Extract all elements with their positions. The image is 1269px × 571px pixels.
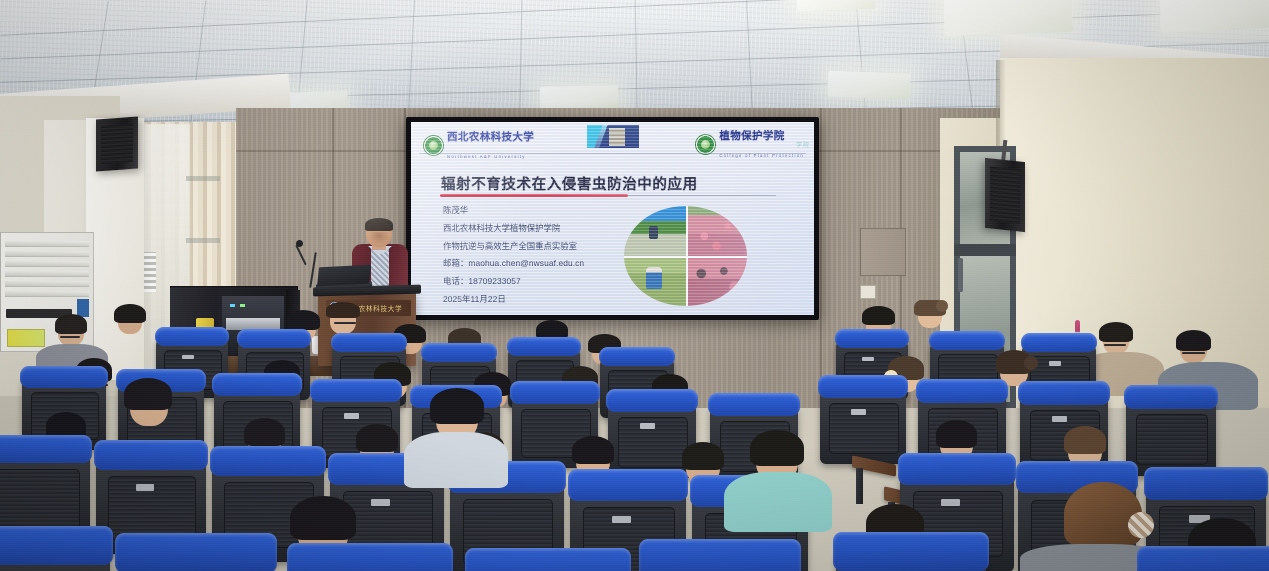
auditorium-seat[interactable]	[642, 558, 798, 571]
attendee-hair	[290, 496, 356, 540]
collage-quadrant-researcher	[624, 256, 686, 306]
presentation-screen[interactable]: 西北农林科技大学 Northwest A&F University 植物保护学院…	[411, 122, 814, 315]
collage-quadrant-field	[624, 206, 686, 256]
slide-watermark: 学院	[796, 140, 810, 149]
attendee-hair	[536, 320, 568, 339]
field-research-photo-collage	[624, 206, 747, 306]
attendee-hair-bun	[936, 300, 948, 312]
attendee-hair	[114, 304, 146, 323]
attendee-hair	[1176, 330, 1211, 351]
attendee-hair	[244, 418, 285, 446]
window-mullion	[186, 238, 220, 243]
door-handle[interactable]	[958, 258, 963, 292]
attendee-hair	[430, 388, 484, 424]
title-underline-tail	[628, 195, 776, 196]
attendee-glasses	[60, 336, 80, 338]
slide-line-author: 陈茂华	[443, 206, 633, 214]
attendee-hair	[124, 378, 172, 410]
attendee-hair-scrunchie	[1128, 512, 1154, 538]
attendee-hair	[1064, 426, 1106, 454]
slide-line-email: 邮箱：maohua.chen@nwsuaf.edu.cn	[443, 259, 633, 267]
auditorium-seat[interactable]	[290, 562, 450, 571]
attendee-glasses	[334, 322, 356, 324]
slide-line-affiliation: 西北农林科技大学植物保护学院	[443, 224, 633, 232]
attendee-hair	[936, 420, 977, 448]
campus-building-photo	[587, 125, 639, 148]
attendee-glasses	[1104, 344, 1126, 346]
collage-quadrant-harvest	[686, 256, 748, 306]
slide-line-phone: 电话：18709233057	[443, 277, 633, 285]
attendee-glasses	[1182, 352, 1205, 354]
presenter-laptop[interactable]	[317, 265, 371, 287]
university-logo: 西北农林科技大学 Northwest A&F University	[423, 127, 534, 163]
wall-outlet-plate	[860, 285, 876, 299]
slide-body-lines: 陈茂华 西北农林科技大学植物保护学院 作物抗逆与高效生产全国重点实验室 邮箱：m…	[443, 206, 633, 313]
attendee-hair	[287, 310, 320, 330]
window-mullion	[186, 176, 220, 181]
college-seal-icon	[695, 134, 716, 155]
microphone-capsule	[296, 240, 303, 247]
attendee-hair	[1099, 322, 1133, 342]
attendee-hair	[750, 430, 804, 466]
presenter-face-shadow	[369, 232, 389, 244]
university-name-cn: 西北农林科技大学	[447, 131, 534, 143]
title-underline-accent	[440, 194, 628, 197]
attendee-hair-bun	[1024, 356, 1038, 370]
collage-divider-horizontal	[624, 256, 747, 258]
attendee-hair	[862, 306, 895, 325]
door-cross-rail	[954, 244, 1016, 256]
attendee-hair	[682, 442, 724, 470]
attendee-hair	[55, 314, 87, 334]
auditorium-seat[interactable]	[820, 386, 906, 464]
auditorium-seat[interactable]	[118, 552, 274, 571]
audience-seating	[0, 300, 1269, 571]
lecture-hall-photo: 西北农林科技大学 Northwest A&F University 植物保护学院…	[0, 0, 1269, 571]
university-name-en: Northwest A&F University	[447, 154, 526, 159]
auditorium-seat[interactable]	[836, 550, 986, 571]
attendee-shoulders	[404, 432, 508, 488]
slide-line-lab: 作物抗逆与高效生产全国重点实验室	[443, 242, 633, 250]
wall-speaker-right	[985, 158, 1025, 232]
attendee-hair	[1064, 482, 1142, 546]
attendee-hair	[572, 436, 614, 464]
wall-speaker-left	[96, 117, 138, 172]
attendee-shoulders	[724, 472, 832, 532]
auditorium-seat[interactable]	[0, 544, 110, 571]
slide-title: 辐射不育技术在入侵害虫防治中的应用	[441, 173, 698, 194]
college-logo: 植物保护学院 College of Plant Protection	[695, 126, 804, 162]
attendee-hair	[356, 424, 398, 452]
slide-header: 西北农林科技大学 Northwest A&F University 植物保护学院…	[411, 122, 814, 154]
college-name-cn: 植物保护学院	[719, 130, 784, 142]
auditorium-seat[interactable]	[1126, 396, 1216, 476]
presenter-hair	[365, 218, 393, 231]
wall-access-hatch	[860, 228, 906, 276]
collage-quadrant-orchard	[686, 206, 748, 256]
attendee-hair	[326, 302, 360, 318]
auditorium-seat[interactable]	[1140, 566, 1269, 571]
seat-support-post	[856, 468, 863, 504]
